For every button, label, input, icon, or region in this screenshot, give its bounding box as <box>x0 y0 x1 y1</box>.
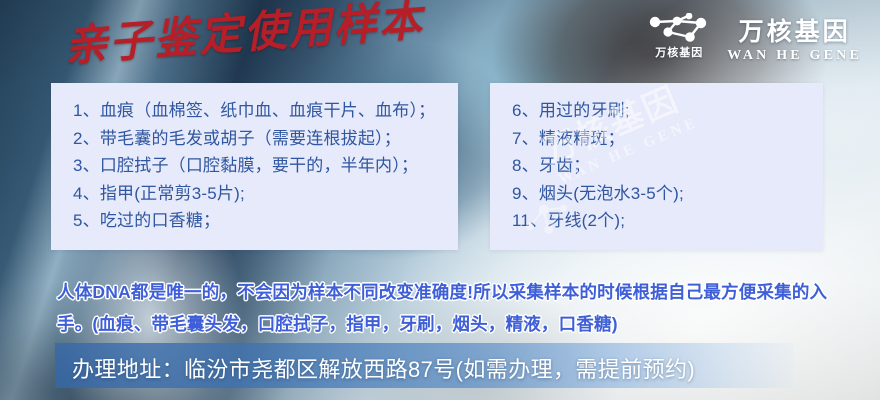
brand-name-en: WAN HE GENE <box>727 48 862 63</box>
brand-mark-subtitle: 万核基因 <box>655 48 703 59</box>
list-item: 11、牙线(2个); <box>512 207 823 235</box>
list-item: 5、吃过的口香糖； <box>73 207 458 235</box>
poster-root: 亲子鉴定使用样本 <box>0 0 880 400</box>
list-item: 3、口腔拭子（口腔黏膜，要干的，半年内）； <box>73 152 458 180</box>
sample-list-right: 6、用过的牙刷; 7、精液精斑； 8、牙齿； 9、烟头(无泡水3-5个); 11… <box>490 83 823 235</box>
list-item: 4、指甲(正常剪3-5片); <box>73 180 458 208</box>
list-item: 6、用过的牙刷; <box>512 97 823 125</box>
list-item: 1、血痕（血棉签、纸巾血、血痕干片、血布）； <box>73 97 458 125</box>
brand-name-cn: 万核基因 <box>739 19 851 45</box>
address-text: 办理地址：临汾市尧都区解放西路87号(如需办理，需提前预约) <box>72 352 695 384</box>
list-item: 8、牙齿； <box>512 152 823 180</box>
sample-list-left: 1、血痕（血棉签、纸巾血、血痕干片、血布）； 2、带毛囊的毛发或胡子（需要连根拔… <box>51 83 458 235</box>
brand-logo: 万核基因 万核基因 WAN HE GENE <box>645 13 862 69</box>
note-paragraph: 人体DNA都是唯一的，不会因为样本不同改变准确度!所以采集样本的时候根据自己最方… <box>57 276 829 340</box>
list-item: 2、带毛囊的毛发或胡子（需要连根拔起）； <box>73 125 458 153</box>
sample-panel-left: 1、血痕（血棉签、纸巾血、血痕干片、血布）； 2、带毛囊的毛发或胡子（需要连根拔… <box>51 83 458 250</box>
sample-panel-right: 6、用过的牙刷; 7、精液精斑； 8、牙齿； 9、烟头(无泡水3-5个); 11… <box>490 83 823 250</box>
molecule-icon <box>646 13 712 47</box>
list-item: 9、烟头(无泡水3-5个); <box>512 180 823 208</box>
brand-mark: 万核基因 <box>645 13 713 69</box>
brand-text: 万核基因 WAN HE GENE <box>727 19 862 64</box>
list-item: 7、精液精斑； <box>512 125 823 153</box>
